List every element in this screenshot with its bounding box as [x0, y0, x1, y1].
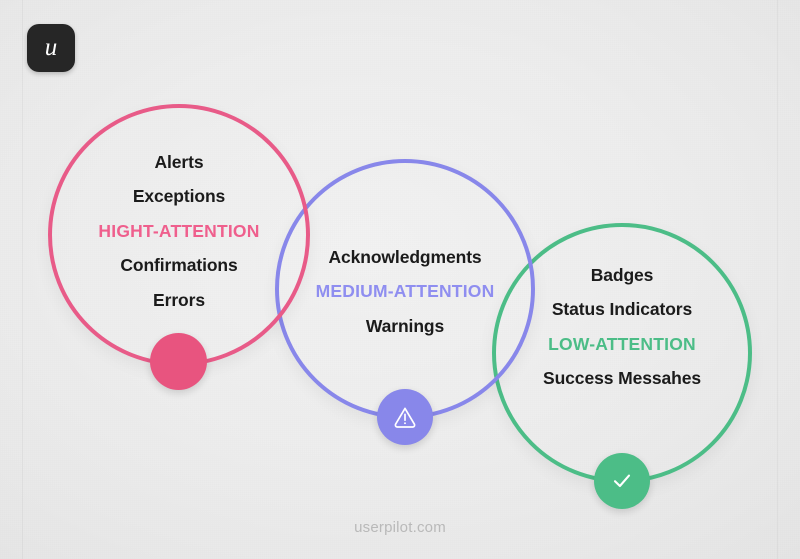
medium-attention-key-label: MEDIUM-ATTENTION [285, 275, 525, 310]
userpilot-u-logo-icon: u [45, 35, 58, 60]
low-attention-labels: Badges Status Indicators LOW-ATTENTION S… [502, 258, 742, 396]
medium-attention-item-2: Warnings [285, 309, 525, 344]
low-attention-key-label: LOW-ATTENTION [502, 327, 742, 362]
diagram-canvas: u Badges Status Indicators LOW-ATTENTION… [0, 0, 800, 559]
high-attention-item-4: Errors [58, 283, 300, 318]
high-attention-key-label: HIGHT-ATTENTION [58, 214, 300, 249]
low-attention-item-0: Badges [502, 258, 742, 293]
userpilot-logo[interactable]: u [27, 24, 75, 72]
footer-watermark: userpilot.com [0, 519, 800, 536]
medium-attention-item-0: Acknowledgments [285, 240, 525, 275]
low-attention-item-3: Success Messahes [502, 362, 742, 397]
check-circle-icon[interactable] [594, 453, 650, 509]
high-attention-item-0: Alerts [58, 145, 300, 180]
warning-triangle-icon[interactable] [377, 389, 433, 445]
high-attention-item-3: Confirmations [58, 249, 300, 284]
left-edge-line [22, 0, 23, 559]
high-attention-labels: Alerts Exceptions HIGHT-ATTENTION Confir… [58, 145, 300, 318]
high-attention-item-1: Exceptions [58, 180, 300, 215]
medium-attention-labels: Acknowledgments MEDIUM-ATTENTION Warning… [285, 240, 525, 344]
right-edge-line [777, 0, 778, 559]
low-attention-item-1: Status Indicators [502, 293, 742, 328]
dot-icon[interactable] [150, 333, 207, 390]
